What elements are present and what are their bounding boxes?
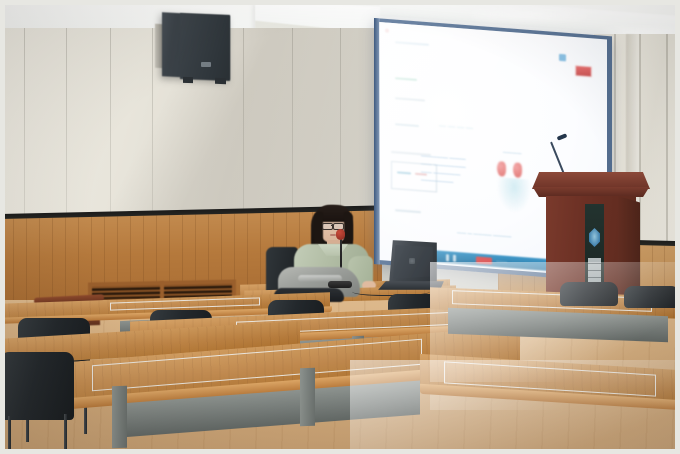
table-microphone-icon [336, 229, 345, 240]
desk-leg-4a [112, 386, 127, 449]
slide-footer-text: —— — ———— ———— [457, 230, 511, 239]
chair-front-1[interactable] [0, 352, 74, 420]
speaker-logo-icon [201, 62, 211, 67]
eyeglasses-bridge [331, 225, 334, 226]
slide-corner-icon [559, 54, 566, 62]
table-microphone-base [328, 281, 352, 288]
slide-title: ———— [439, 123, 475, 133]
conference-room-photo: ———— ————— ——— —— —————— —— ————— ——————… [0, 0, 680, 454]
chair-right-1[interactable] [560, 282, 618, 306]
speaker-mount-foot [183, 77, 193, 83]
chair-front-leg [8, 416, 11, 454]
desk-leg-4b [300, 368, 315, 427]
slide-figure-body [497, 177, 531, 214]
slide-left-box [391, 161, 437, 193]
podium-top [532, 172, 650, 189]
slide-figure-right [513, 162, 522, 178]
slide-figure-caption: ———— [503, 150, 521, 156]
taskbar-item-label: ——— [496, 259, 507, 264]
speaker-mount-foot [215, 78, 226, 84]
ceiling-light-icon [470, 6, 590, 22]
laptop-logo-icon [409, 258, 415, 264]
speaker-grille [180, 13, 230, 81]
chair-front-leg [64, 414, 67, 454]
slide-figure-left [497, 161, 506, 177]
chair-right-2[interactable] [624, 286, 680, 308]
slide-brand-logo-icon [575, 65, 592, 77]
person-hair-right [344, 212, 353, 244]
wall-shadow [105, 28, 380, 218]
slide-corner-mark-icon [385, 28, 389, 32]
